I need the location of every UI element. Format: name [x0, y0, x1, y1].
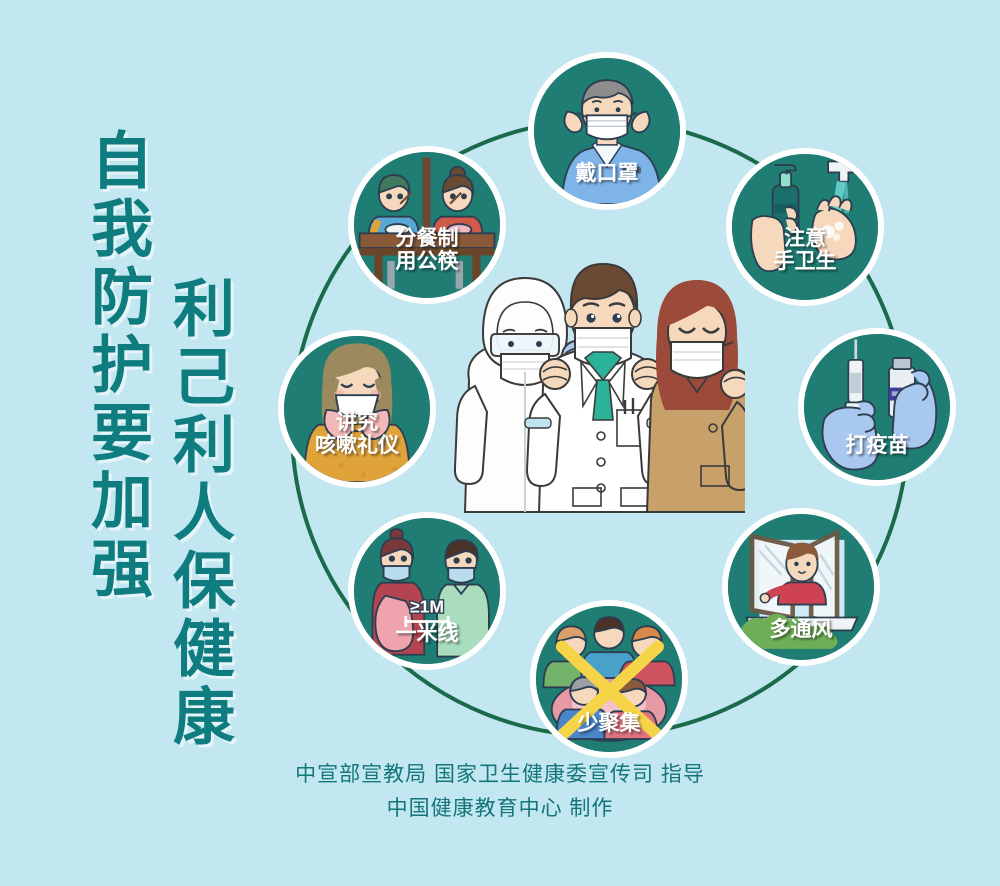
ventilation-illustration [728, 514, 874, 660]
one-meter-line-illustration: ≥1M [354, 518, 500, 664]
vaccination-illustration [804, 334, 950, 480]
node-wear-mask[interactable]: 戴口罩 [528, 52, 686, 210]
footer-credits: 中宣部宣教局 国家卫生健康委宣传司 指导 中国健康教育中心 制作 [0, 758, 1000, 825]
node-cough-etiquette[interactable]: 讲究 咳嗽礼仪 [278, 330, 436, 488]
healthcare-workers-illustration [425, 250, 745, 515]
node-avoid-gathering[interactable]: 少聚集 [530, 600, 688, 758]
poster-title-line-2: 利己利人保健康 [166, 276, 228, 752]
poster-canvas: 自我防护要加强 利己利人保健康 [0, 0, 1000, 886]
svg-text:≥1M: ≥1M [410, 596, 444, 616]
footer-line-2: 中国健康教育中心 制作 [0, 792, 1000, 826]
wear-mask-illustration [534, 58, 680, 204]
cough-etiquette-illustration [284, 336, 430, 482]
footer-line-1: 中宣部宣教局 国家卫生健康委宣传司 指导 [0, 758, 1000, 792]
hand-hygiene-illustration [732, 154, 878, 300]
nurse [647, 280, 745, 512]
node-hand-hygiene[interactable]: 注意 手卫生 [726, 148, 884, 306]
node-ventilation[interactable]: 多通风 [722, 508, 880, 666]
node-one-meter-line[interactable]: ≥1M 一米线 [348, 512, 506, 670]
poster-title-line-1: 自我防护要加强 [84, 128, 146, 604]
avoid-gathering-illustration [536, 606, 682, 752]
node-vaccination[interactable]: 打疫苗 [798, 328, 956, 486]
